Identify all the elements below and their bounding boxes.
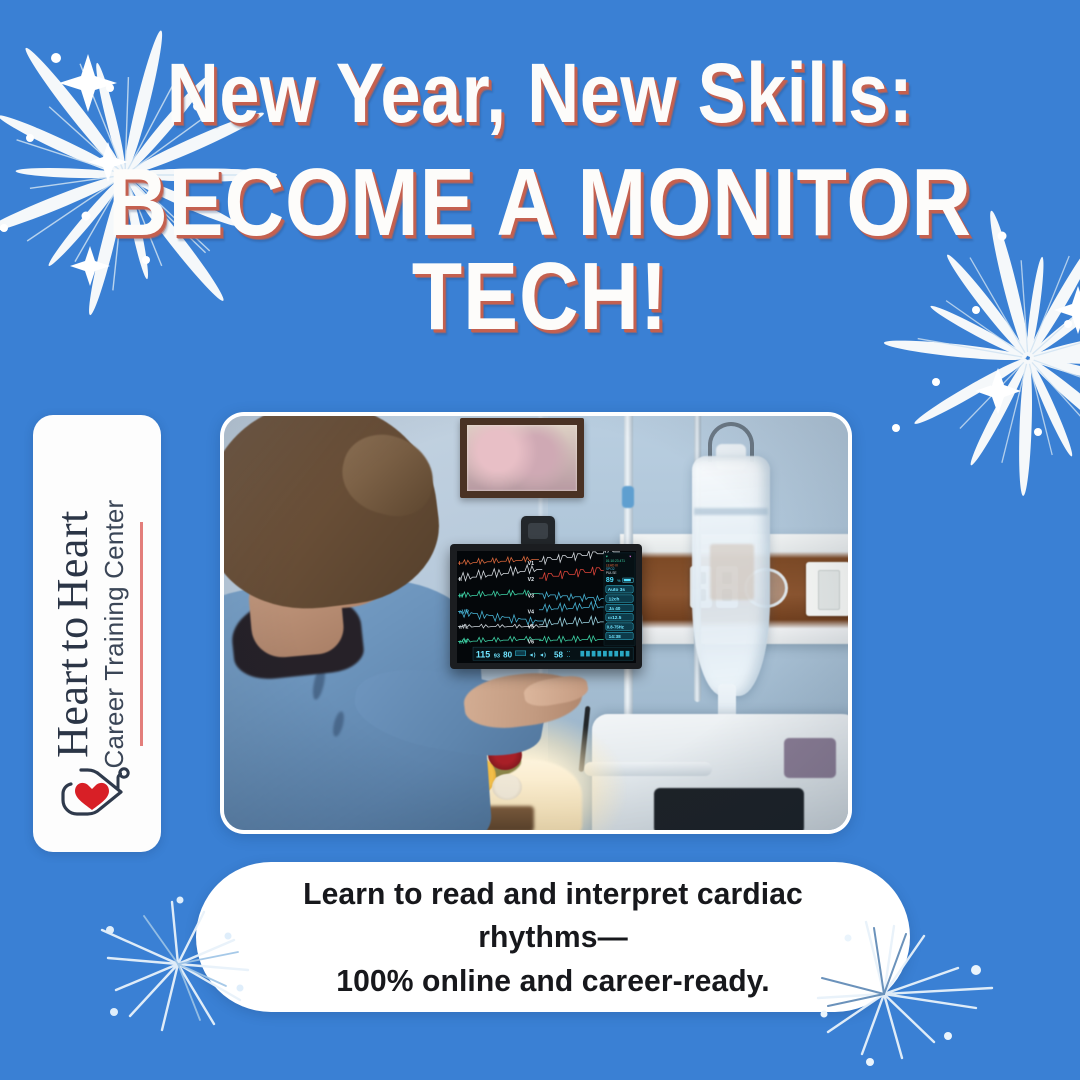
framed-wall-art: [460, 418, 584, 498]
svg-text:Auto 3s: Auto 3s: [608, 587, 626, 592]
headline-line-1: New Year, New Skills:: [76, 52, 1005, 134]
svg-text:01:10:23.471: 01:10:23.471: [606, 559, 625, 563]
iv-bag-label: [710, 544, 754, 600]
svg-text:▪ ▪: ▪ ▪: [567, 654, 570, 658]
svg-text:V3: V3: [528, 594, 534, 600]
svg-text:89: 89: [606, 577, 614, 584]
svg-text:aVR: aVR: [459, 610, 469, 616]
svg-text:58: 58: [554, 650, 563, 659]
flower-white-1: [492, 774, 522, 800]
ecg-monitor: I II III aVR aVL aVF V1V2 V3V4 V5V6: [450, 544, 642, 669]
svg-text:▪ ▪: ▪ ▪: [567, 650, 570, 654]
bed-side-equipment: [784, 738, 836, 778]
logo-tagline: Career Training Center: [99, 499, 130, 768]
poster-canvas: New Year, New Skills: Become a Monitor T…: [0, 0, 1080, 1080]
svg-text:V5: V5: [528, 624, 534, 630]
svg-text:▭12.5: ▭12.5: [608, 615, 622, 620]
logo-wordmark: Heart to Heart: [51, 510, 95, 758]
svg-text:◄): ◄): [529, 652, 536, 658]
svg-text:V4: V4: [528, 610, 534, 616]
svg-text:Ja 40: Ja 40: [609, 606, 621, 611]
svg-text:V2: V2: [528, 577, 534, 583]
logo-name-heart-1: Heart: [51, 657, 95, 757]
ecg-screen: I II III aVR aVL aVF V1V2 V3V4 V5V6: [457, 551, 636, 663]
svg-text:III: III: [459, 594, 464, 600]
svg-text:0.8-75Hz: 0.8-75Hz: [607, 624, 624, 629]
svg-text:◄): ◄): [539, 652, 546, 658]
caption-line-2: 100% online and career-ready.: [336, 963, 769, 998]
svg-text:aVL: aVL: [459, 624, 468, 630]
logo-name-to: to: [51, 616, 95, 651]
svg-text:♥: ♥: [629, 555, 631, 559]
caption-pill: Learn to read and interpret cardiac rhyt…: [196, 862, 910, 1012]
svg-text:aVF: aVF: [459, 639, 468, 645]
iv-bag-band: [694, 508, 768, 515]
logo-divider: [140, 522, 143, 746]
hospital-photo: I II III aVR aVL aVF V1V2 V3V4 V5V6: [224, 416, 848, 830]
logo-name-heart-2: Heart: [51, 510, 95, 610]
wall-switch-plate: [806, 562, 848, 616]
svg-text:♥: ♥: [606, 555, 608, 559]
headline-line-2: Become a Monitor Tech!: [76, 156, 1005, 344]
svg-text:V6: V6: [528, 639, 534, 645]
iv-clip-upper: [622, 486, 634, 508]
svg-text:V1: V1: [528, 561, 534, 567]
wall-art-mat: [467, 425, 577, 491]
svg-text:80: 80: [503, 650, 512, 659]
svg-text:115: 115: [476, 649, 490, 659]
logo-card: Heart to Heart Career Training Center: [33, 415, 161, 852]
caption-line-1: Learn to read and interpret cardiac rhyt…: [303, 876, 803, 954]
headline-block: New Year, New Skills: Become a Monitor T…: [0, 52, 1080, 344]
heart-stethoscope-icon: [59, 764, 135, 830]
bed-base-dark: [654, 788, 804, 830]
svg-text:93: 93: [494, 653, 500, 659]
svg-text:PULSE: PULSE: [606, 571, 618, 575]
photo-frame: I II III aVR aVL aVF V1V2 V3V4 V5V6: [220, 412, 852, 834]
svg-text:14:38: 14:38: [609, 634, 621, 639]
caption-text: Learn to read and interpret cardiac rhyt…: [207, 872, 900, 1002]
svg-text:12ch: 12ch: [609, 596, 620, 601]
